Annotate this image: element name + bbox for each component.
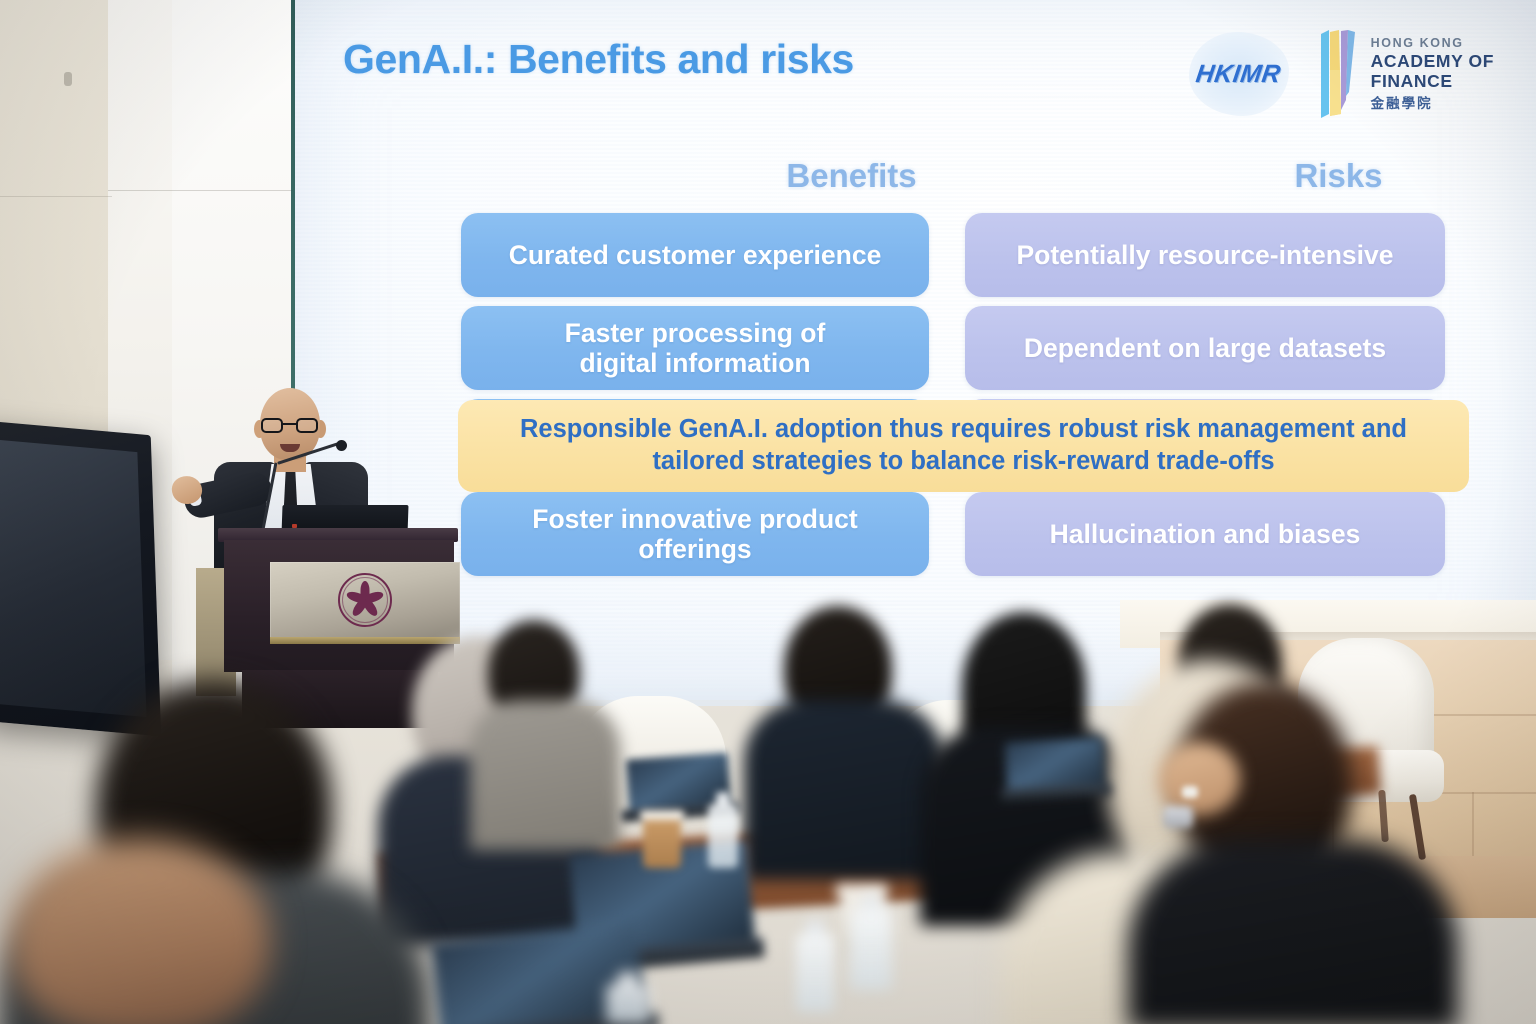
conference-photo-scene: GenA.I.: Benefits and risks HKIMR [0, 0, 1536, 1024]
photo-vignette [0, 0, 1536, 1024]
